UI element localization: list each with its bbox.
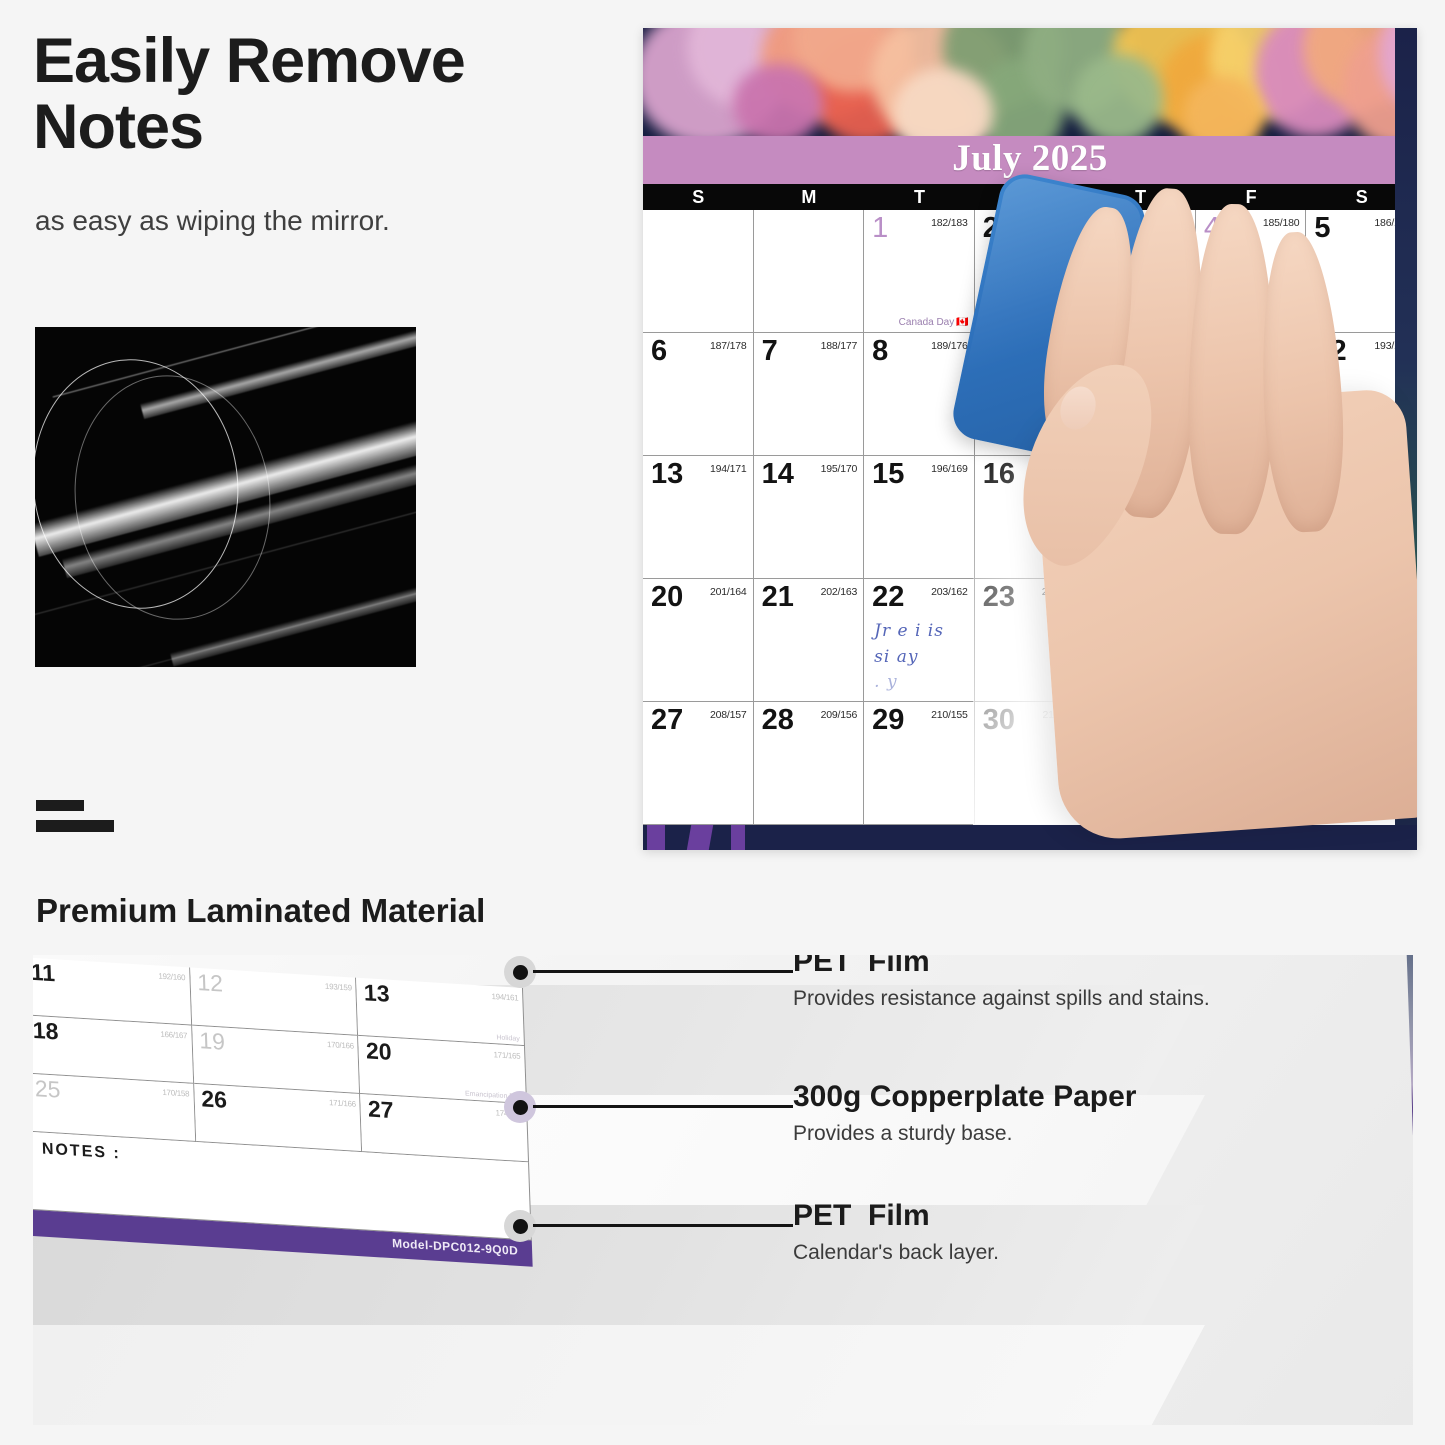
mini-calendar-mockup: 11192/16012193/15913194/161Holiday18166/…: [33, 957, 533, 1268]
calendar-day-cell[interactable]: 16197/168: [975, 456, 1086, 579]
calendar-day-cell[interactable]: 4185/180Independence Day🇺🇸I1 00Meti.. un…: [1196, 210, 1307, 333]
weekday-header-3: W: [975, 184, 1086, 210]
day-number: 11: [1204, 335, 1235, 368]
calendar-day-grid: 1182/183Canada Day🇨🇦2183/1823184/181Pre …: [643, 210, 1417, 825]
callout-text-1: PET Film Provides resistance against spi…: [793, 955, 1210, 1011]
day-of-year: 201/164: [710, 586, 747, 598]
note-line: .. ung: [1206, 301, 1307, 327]
mini-day-number: 20: [365, 1037, 392, 1066]
film-highlight-band: [140, 327, 416, 419]
divider-bar-long: [36, 820, 114, 832]
note-line: Pre re: [1095, 250, 1196, 276]
floral-header-artwork: [643, 28, 1417, 136]
handwritten-note: Jr e i issi ay. y: [874, 619, 975, 696]
calendar-day-cell[interactable]: 28209/156: [754, 702, 865, 825]
calendar-day-cell[interactable]: 2183/182: [975, 210, 1086, 333]
floral-blob: [1073, 54, 1163, 136]
day-number: 8: [872, 335, 888, 368]
day-of-year: 182/183: [931, 217, 968, 229]
note-line: <'A: [985, 418, 1086, 441]
callout-marker-3[interactable]: [504, 1210, 536, 1242]
callout-title: PET Film: [793, 955, 1210, 979]
calendar-day-cell[interactable]: 15196/169: [864, 456, 975, 579]
day-number: 24: [1093, 581, 1125, 614]
weekday-header-4: T: [1085, 184, 1196, 210]
callout-desc: Calendar's back layer.: [793, 1241, 999, 1265]
calendar-day-cell[interactable]: [1196, 702, 1307, 825]
feature-section-laminated-material: Premium Laminated Material 11192/1601219…: [0, 880, 1445, 1445]
day-of-year: 184/181: [1152, 217, 1189, 229]
mini-calendar-cell: 25170/158: [33, 1074, 196, 1142]
material-layers-diagram: 11192/16012193/15913194/161Holiday18166/…: [33, 955, 1413, 1425]
calendar-month-band: July 2025: [643, 136, 1417, 184]
handwritten-note: Pre reL ch: [1095, 250, 1196, 301]
note-line: . y: [874, 670, 975, 696]
weekday-header-5: F: [1196, 184, 1307, 210]
calendar-day-cell[interactable]: 1182/183Canada Day🇨🇦: [864, 210, 975, 333]
day-number: 18: [1204, 458, 1236, 491]
mini-day-of-year: 192/160: [158, 972, 185, 983]
calendar-day-cell[interactable]: 11192/173: [1196, 333, 1307, 456]
note-line: I1 00: [1206, 250, 1307, 276]
mini-day-number: 11: [33, 959, 56, 988]
callout-line-1: [533, 970, 793, 973]
calendar-day-cell[interactable]: 7188/177: [754, 333, 865, 456]
day-of-year: 210/155: [931, 709, 968, 721]
day-of-year: 212/153: [1152, 709, 1189, 721]
day-of-year: 189/176: [931, 340, 968, 352]
day-number: 20: [651, 581, 683, 614]
weekday-header-2: T: [864, 184, 975, 210]
day-of-year: 191/174: [1152, 340, 1189, 352]
day-number: 28: [762, 704, 794, 737]
day-of-year: 211/154: [1043, 709, 1079, 721]
mini-day-of-year: 170/158: [162, 1088, 189, 1099]
pet-film-photo: [35, 327, 416, 667]
note-line: r n' ul: [985, 373, 1086, 396]
mini-calendar-cell: 20171/165Emancipation Day: [358, 1036, 527, 1104]
mini-calendar-side-panel: [1406, 955, 1413, 1221]
day-number: 31: [1093, 704, 1125, 737]
calendar-day-cell[interactable]: 14195/170: [754, 456, 865, 579]
notes-label: NOTES :: [42, 1141, 121, 1164]
day-of-year: 209/156: [821, 709, 858, 721]
mini-day-of-year: 171/166: [329, 1098, 356, 1109]
day-number: 2: [983, 212, 999, 245]
day-number: 10: [1093, 335, 1125, 368]
day-of-year: 204/161: [1042, 586, 1079, 598]
section-title: Premium Laminated Material: [36, 892, 485, 930]
callout-text-2: 300g Copperplate Paper Provides a sturdy…: [793, 1080, 1136, 1146]
day-number: 13: [651, 458, 683, 491]
callout-desc: Provides a sturdy base.: [793, 1122, 1136, 1146]
calendar-day-cell[interactable]: 9190/175r n' ul'R.<'A: [975, 333, 1086, 456]
calendar-day-cell[interactable]: 24205/160: [1085, 579, 1196, 702]
callout-dot-icon: [513, 1100, 528, 1115]
mini-calendar-cell: 11192/160: [33, 957, 192, 1025]
calendar-day-cell[interactable]: 22203/162Jr e i issi ay. y: [864, 579, 975, 702]
mini-day-of-year: 170/166: [327, 1040, 354, 1051]
handwritten-note: r n' ul'R.<'A: [985, 373, 1086, 441]
callout-title: 300g Copperplate Paper: [793, 1080, 1136, 1114]
border-accent-chip: [647, 825, 665, 850]
day-of-year: 192/173: [1263, 340, 1300, 352]
layer-sheet: [33, 1325, 1205, 1425]
callout-marker-1[interactable]: [504, 956, 536, 988]
day-number: 30: [983, 704, 1015, 737]
day-number: 25: [1204, 581, 1236, 614]
day-number: 14: [762, 458, 794, 491]
calendar-day-cell[interactable]: 31212/153: [1085, 702, 1196, 825]
note-line: Jr e i is: [874, 619, 975, 645]
callout-line-3: [533, 1224, 793, 1227]
calendar-day-cell[interactable]: 27208/157: [643, 702, 754, 825]
day-of-year: 183/182: [1042, 217, 1079, 229]
day-of-year: 187/178: [710, 340, 747, 352]
day-number: 27: [651, 704, 683, 737]
day-number: 23: [983, 581, 1015, 614]
mini-day-number: 18: [33, 1017, 59, 1046]
callout-dot-icon: [513, 965, 528, 980]
callout-marker-2[interactable]: [504, 1091, 536, 1123]
border-accent-chip: [687, 825, 713, 850]
weekday-header-1: M: [754, 184, 865, 210]
mini-day-number: 26: [201, 1085, 228, 1114]
mini-calendar-rows: 11192/16012193/15913194/161Holiday18166/…: [33, 957, 529, 1162]
calendar-day-cell[interactable]: 29210/155: [864, 702, 975, 825]
day-of-year: 208/157: [710, 709, 747, 721]
day-of-year: 197/168: [1042, 463, 1079, 475]
mini-day-number: 19: [199, 1027, 226, 1056]
mini-calendar-cell: 12193/159: [190, 968, 359, 1036]
calendar-day-cell[interactable]: 17198/167: [1085, 456, 1196, 579]
day-of-year: 196/169: [931, 463, 968, 475]
day-number: 19: [1314, 458, 1346, 491]
mini-day-of-year: 193/159: [325, 982, 352, 993]
day-number: 3: [1093, 212, 1109, 245]
day-number: 17: [1093, 458, 1125, 491]
day-of-year: 188/177: [821, 340, 858, 352]
day-number: 9: [983, 335, 999, 368]
day-number: 15: [872, 458, 904, 491]
day-number: 5: [1314, 212, 1330, 245]
day-number: 29: [872, 704, 904, 737]
mini-day-number: 25: [34, 1075, 61, 1104]
holiday-flag-icon: 🇨🇦: [956, 317, 968, 328]
day-of-year: 202/163: [821, 586, 858, 598]
calendar-day-cell[interactable]: 10191/174: [1085, 333, 1196, 456]
day-number: 1: [872, 212, 888, 245]
calendar-month-title: July 2025: [643, 136, 1417, 184]
day-of-year: 185/180: [1263, 217, 1300, 229]
calendar-weekday-header: SMTWTFS: [643, 184, 1417, 210]
day-of-year: 194/171: [710, 463, 747, 475]
day-number: 21: [762, 581, 794, 614]
day-of-year: 198/167: [1152, 463, 1189, 475]
calendar-day-cell[interactable]: 18199/166: [1196, 456, 1307, 579]
mini-calendar-cell: 13194/161Holiday: [356, 978, 525, 1046]
model-number: Model-DPC012-9Q0D: [392, 1236, 519, 1258]
holiday-label: Canada Day🇨🇦: [899, 317, 969, 328]
day-number: 4: [1204, 212, 1220, 245]
day-of-year: 190/175: [1042, 340, 1079, 352]
weekday-header-0: S: [643, 184, 754, 210]
floral-blob: [733, 64, 823, 136]
callout-line-2: [533, 1105, 793, 1108]
day-number: 6: [651, 335, 667, 368]
note-line: L ch: [1095, 276, 1196, 302]
feature-section-remove-notes: Easily Remove Notes as easy as wiping th…: [0, 0, 1445, 870]
calendar-day-cell[interactable]: 3184/181Pre reL ch: [1085, 210, 1196, 333]
film-roll-illustration: [35, 327, 416, 667]
calendar-day-cell[interactable]: 21202/163: [754, 579, 865, 702]
mini-day-number: 27: [367, 1095, 394, 1124]
mini-holiday-label: Holiday: [496, 1034, 520, 1042]
callout-title: PET Film: [793, 1199, 999, 1233]
calendar-product-photo: July 2025 SMTWTFS 1182/183Canada Day🇨🇦21…: [643, 28, 1417, 850]
day-of-year: 206/159: [1263, 586, 1300, 598]
note-line: 'R.: [985, 396, 1086, 419]
mini-calendar-cell: 19170/166: [192, 1026, 361, 1094]
calendar-day-cell[interactable]: 30211/154: [975, 702, 1086, 825]
calendar-bottom-border: [643, 825, 1417, 850]
callout-dot-icon: [513, 1219, 528, 1234]
calendar-day-cell[interactable]: 8189/176: [864, 333, 975, 456]
calendar-day-cell[interactable]: 13194/171: [643, 456, 754, 579]
day-of-year: 203/162: [931, 586, 968, 598]
day-number: 16: [983, 458, 1015, 491]
mini-calendar-cell: 26171/166: [194, 1084, 363, 1152]
divider-bar-short: [36, 800, 84, 811]
calendar-day-cell[interactable]: [754, 210, 865, 333]
day-of-year: 195/170: [821, 463, 858, 475]
mini-day-of-year: 166/167: [160, 1030, 187, 1041]
note-line: si ay: [874, 645, 975, 671]
mini-day-of-year: 194/161: [491, 992, 518, 1003]
mini-day-number: 13: [363, 979, 390, 1008]
calendar-day-cell[interactable]: 25206/159: [1196, 579, 1307, 702]
day-number: 22: [872, 581, 904, 614]
calendar-right-border: [1395, 28, 1417, 850]
callout-text-3: PET Film Calendar's back layer.: [793, 1199, 999, 1265]
calendar-day-cell[interactable]: 6187/178: [643, 333, 754, 456]
mini-day-of-year: 171/165: [493, 1050, 520, 1061]
border-accent-chip: [731, 825, 745, 850]
note-line: Meti: [1206, 276, 1307, 302]
calendar-day-cell[interactable]: [643, 210, 754, 333]
day-number: 26: [1314, 581, 1346, 614]
day-of-year: 199/166: [1263, 463, 1300, 475]
page-subtitle: as easy as wiping the mirror.: [35, 205, 595, 237]
section-divider-mark: [36, 800, 114, 832]
callout-desc: Provides resistance against spills and s…: [793, 987, 1210, 1011]
day-number: 7: [762, 335, 778, 368]
day-of-year: 205/160: [1152, 586, 1189, 598]
mini-calendar-cell: 18166/167: [33, 1015, 194, 1083]
calendar-day-cell[interactable]: 23204/161: [975, 579, 1086, 702]
mini-day-number: 12: [197, 969, 224, 998]
page-title: Easily Remove Notes: [33, 28, 613, 160]
handwritten-note: I1 00Meti.. ung: [1206, 250, 1307, 327]
calendar-day-cell[interactable]: 20201/164: [643, 579, 754, 702]
day-number: 12: [1314, 335, 1346, 368]
